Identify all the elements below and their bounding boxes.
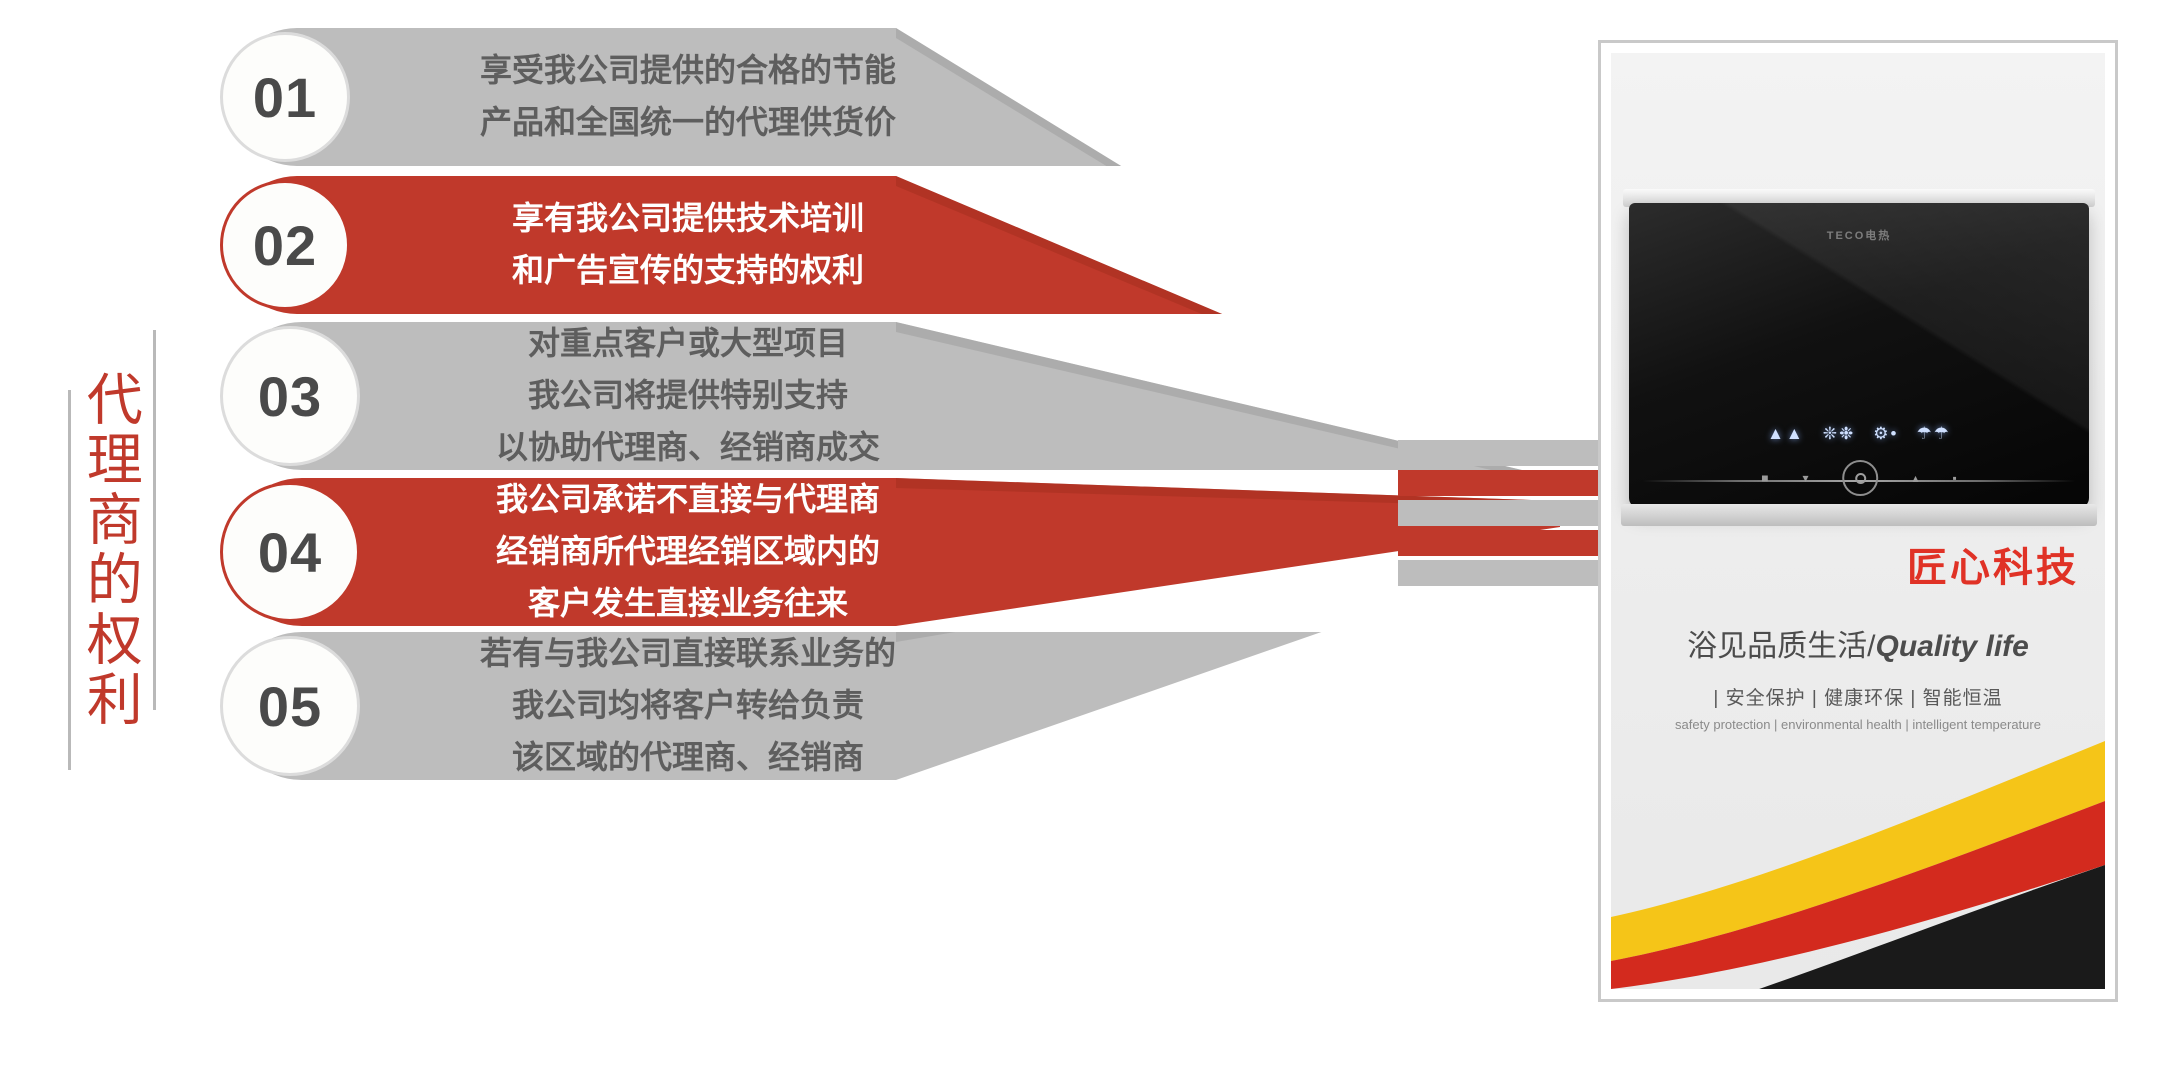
product-panel-inner: TECO电热 ▲▲ ❊❉ ⚙• ☂☂ ■ ▾ ▴ <box>1611 53 2105 989</box>
panel-features-en: safety protection | environmental health… <box>1675 717 2041 732</box>
funnel-row-number: 04 <box>258 520 322 585</box>
panel-slogan-cn: 浴见品质生活 <box>1687 630 1867 663</box>
heater-bottom-trim <box>1621 504 2097 526</box>
funnel-rows: 01享受我公司提供的合格的节能产品和全国统一的代理供货价02享有我公司提供技术培… <box>0 0 1560 1080</box>
funnel-row-text-line: 经销商所代理经销区域内的 <box>408 526 968 578</box>
funnel-row-02[interactable]: 02享有我公司提供技术培训和广告宣传的支持的权利 <box>228 176 1560 314</box>
funnel-row-number-badge[interactable]: 04 <box>220 482 360 622</box>
mode-key[interactable]: ■ <box>1761 471 1768 485</box>
power-key[interactable] <box>1842 460 1878 496</box>
funnel-row-03[interactable]: 03对重点客户或大型项目我公司将提供特别支持以协助代理商、经销商成交 <box>228 322 1560 470</box>
funnel-row-number: 02 <box>253 213 317 278</box>
heater-glass-panel: TECO电热 ▲▲ ❊❉ ⚙• ☂☂ ■ ▾ ▴ <box>1629 203 2089 508</box>
funnel-row-text-line: 我公司均将客户转给负责 <box>408 680 968 732</box>
panel-features-cn: | 安全保护 | 健康环保 | 智能恒温 <box>1713 683 2002 710</box>
funnel-row-text-line: 若有与我公司直接联系业务的 <box>408 628 968 680</box>
funnel-row-text: 享受我公司提供的合格的节能产品和全国统一的代理供货价 <box>408 28 968 166</box>
funnel-row-text-line: 我公司将提供特别支持 <box>408 370 968 422</box>
brand-swoosh-graphic <box>1611 689 2105 989</box>
funnel-row-text-line: 产品和全国统一的代理供货价 <box>408 97 968 149</box>
funnel-row-04[interactable]: 04我公司承诺不直接与代理商经销商所代理经销区域内的客户发生直接业务往来 <box>228 478 1560 626</box>
heater-display-panel: ▲▲ ❊❉ ⚙• ☂☂ <box>1767 424 1951 444</box>
funnel-row-text: 我公司承诺不直接与代理商经销商所代理经销区域内的客户发生直接业务往来 <box>408 478 968 626</box>
funnel-row-05[interactable]: 05若有与我公司直接联系业务的我公司均将客户转给负责该区域的代理商、经销商 <box>228 632 1560 780</box>
panel-slogan: 浴见品质生活/Quality life <box>1687 621 2029 665</box>
funnel-row-number-badge[interactable]: 01 <box>220 32 350 162</box>
flame-icon: ▲▲ <box>1767 424 1805 444</box>
funnel-row-text-line: 客户发生直接业务往来 <box>408 578 968 630</box>
heater-brand-logo: TECO电热 <box>1827 227 1892 243</box>
funnel-row-number: 03 <box>258 364 322 429</box>
product-panel: TECO电热 ▲▲ ❊❉ ⚙• ☂☂ ■ ▾ ▴ <box>1598 40 2118 1002</box>
funnel-row-text: 享有我公司提供技术培训和广告宣传的支持的权利 <box>408 176 968 314</box>
down-key[interactable]: ▾ <box>1802 471 1808 485</box>
funnel-row-number-badge[interactable]: 05 <box>220 636 360 776</box>
set-key[interactable]: ▪ <box>1953 471 1957 485</box>
funnel-row-number-badge[interactable]: 02 <box>220 180 350 310</box>
funnel-row-text-line: 以协助代理商、经销商成交 <box>408 422 968 474</box>
funnel-row-text-line: 和广告宣传的支持的权利 <box>408 245 968 297</box>
funnel-row-text-line: 对重点客户或大型项目 <box>408 318 968 370</box>
fan-icon: ❊❉ <box>1823 424 1856 444</box>
funnel-row-text-line: 享有我公司提供技术培训 <box>408 193 968 245</box>
funnel-row-number: 05 <box>258 674 322 739</box>
funnel-row-text: 若有与我公司直接联系业务的我公司均将客户转给负责该区域的代理商、经销商 <box>408 632 968 780</box>
water-heater-product: TECO电热 ▲▲ ❊❉ ⚙• ☂☂ ■ ▾ ▴ <box>1629 203 2089 508</box>
power-dot-icon <box>1855 473 1866 484</box>
funnel-row-text-line: 该区域的代理商、经销商 <box>408 732 968 784</box>
funnel-row-text: 对重点客户或大型项目我公司将提供特别支持以协助代理商、经销商成交 <box>408 322 968 470</box>
funnel-row-number-badge[interactable]: 03 <box>220 326 360 466</box>
infographic-canvas: 代理商的权利 01享受我公司提供的合格的节能产品和全国统一的代理供货价02享有我… <box>0 0 2164 1080</box>
panel-headline: 匠心科技 <box>1907 535 2079 593</box>
funnel-row-text-line: 享受我公司提供的合格的节能 <box>408 45 968 97</box>
gear-icon: ⚙• <box>1873 424 1898 444</box>
shower-icon: ☂☂ <box>1916 424 1950 444</box>
heater-touch-keys[interactable]: ■ ▾ ▴ ▪ <box>1761 460 1957 496</box>
funnel-row-text-line: 我公司承诺不直接与代理商 <box>408 474 968 526</box>
funnel-row-number: 01 <box>253 65 317 130</box>
panel-slogan-en: Quality life <box>1875 630 2028 663</box>
up-key[interactable]: ▴ <box>1912 471 1918 485</box>
funnel-row-01[interactable]: 01享受我公司提供的合格的节能产品和全国统一的代理供货价 <box>228 28 1560 166</box>
